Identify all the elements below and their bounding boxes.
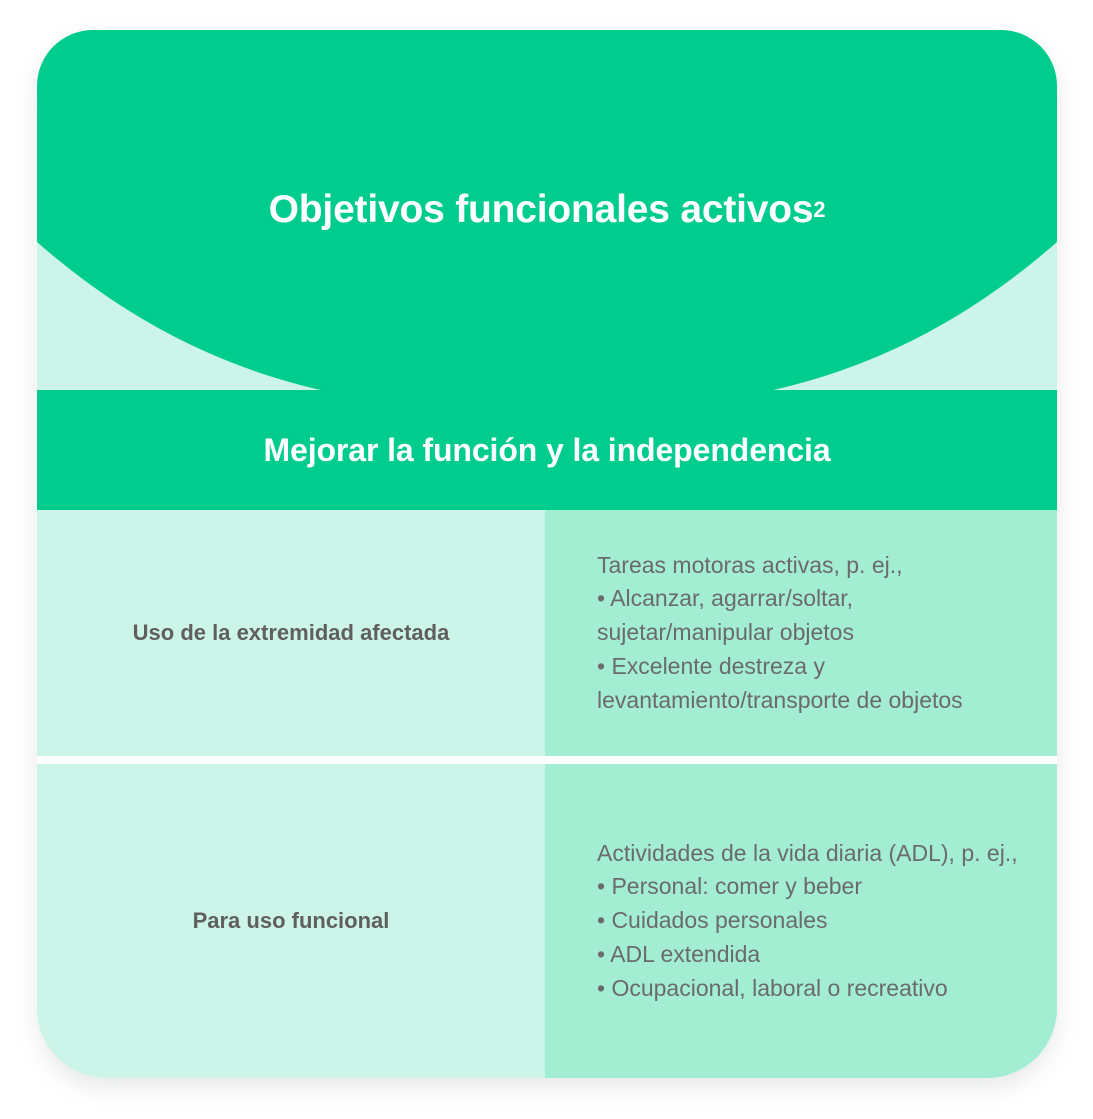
table-row: Uso de la extremidad afectada Tareas mot… (37, 510, 1057, 756)
row-label-text-2: Para uso funcional (193, 906, 390, 936)
row-body-text-1: Tareas motoras activas, p. ej., • Alcanz… (597, 549, 1021, 718)
row-body-cell-1: Tareas motoras activas, p. ej., • Alcanz… (545, 510, 1057, 756)
infographic-stage: Objetivos funcionales activos2 Mejorar l… (0, 0, 1093, 1119)
page-title-superscript: 2 (813, 198, 825, 222)
row-label-text-1: Uso de la extremidad afectada (133, 618, 450, 648)
row-body-cell-2: Actividades de la vida diaria (ADL), p. … (545, 764, 1057, 1078)
table-row: Para uso funcional Actividades de la vid… (37, 764, 1057, 1078)
subtitle-text: Mejorar la función y la independencia (263, 432, 830, 469)
objectives-table: Uso de la extremidad afectada Tareas mot… (37, 510, 1057, 1078)
page-title-text: Objetivos funcionales activos (269, 189, 814, 232)
row-label-cell-2: Para uso funcional (37, 764, 545, 1078)
page-title: Objetivos funcionales activos2 (37, 30, 1057, 390)
row-label-cell-1: Uso de la extremidad afectada (37, 510, 545, 756)
card-header: Objetivos funcionales activos2 (37, 30, 1057, 390)
objectives-card: Objetivos funcionales activos2 Mejorar l… (37, 30, 1057, 1078)
row-body-text-2: Actividades de la vida diaria (ADL), p. … (597, 837, 1021, 1006)
subtitle-band: Mejorar la función y la independencia (37, 390, 1057, 510)
row-divider (37, 756, 1057, 764)
